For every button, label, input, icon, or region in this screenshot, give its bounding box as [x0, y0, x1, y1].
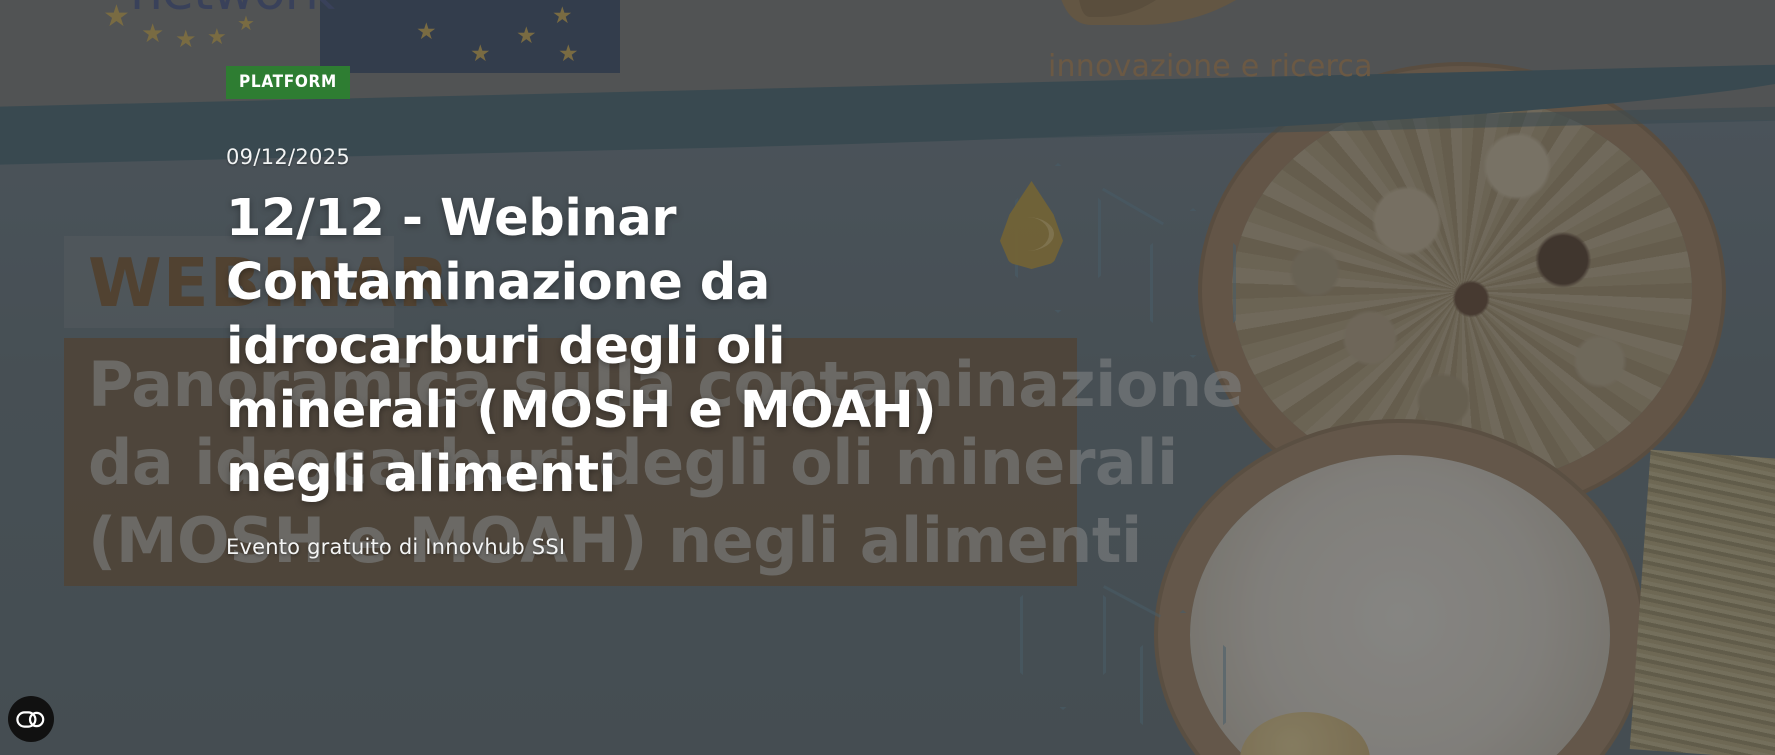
- cookie-consent-icon: [16, 711, 46, 728]
- een-star-icon: ★: [75, 0, 105, 2]
- cookie-consent-button[interactable]: [8, 696, 54, 742]
- een-star-icon: ★: [141, 20, 164, 46]
- status-badge: PLATFORM: [226, 66, 350, 99]
- page-subtitle: Evento gratuito di Innovhub SSI: [226, 535, 986, 559]
- een-star-icon: ★: [175, 28, 197, 52]
- page-root: ★ ★ ★ ★ ★ ★ ★ network ★ ★ ★ ★ ★ ★ innova…: [0, 0, 1775, 755]
- eu-star-icon: ★: [558, 42, 579, 65]
- eu-star-icon: ★: [516, 24, 537, 47]
- een-star-icon: ★: [207, 26, 227, 48]
- eu-star-icon: ★: [552, 4, 573, 27]
- spaghetti-image: [1630, 450, 1775, 755]
- eu-star-icon: ★: [416, 20, 437, 43]
- een-star-icon: ★: [103, 2, 130, 32]
- publish-date: 09/12/2025: [226, 145, 986, 169]
- een-star-icon: ★: [237, 14, 255, 34]
- eu-flag-image: ★ ★ ★ ★ ★ ★ ★: [320, 0, 620, 73]
- hero-content: PLATFORM 09/12/2025 12/12 - Webinar Cont…: [226, 66, 986, 559]
- innovation-caption: innovazione e ricerca: [1048, 49, 1373, 84]
- eu-star-icon: ★: [470, 42, 491, 65]
- page-title: 12/12 - Webinar Contaminazione da idroca…: [226, 187, 956, 507]
- enterprise-europe-network-logo: network ★ ★ ★ ★ ★ ★: [55, 0, 325, 60]
- muesli-bowl-image: [1232, 96, 1692, 486]
